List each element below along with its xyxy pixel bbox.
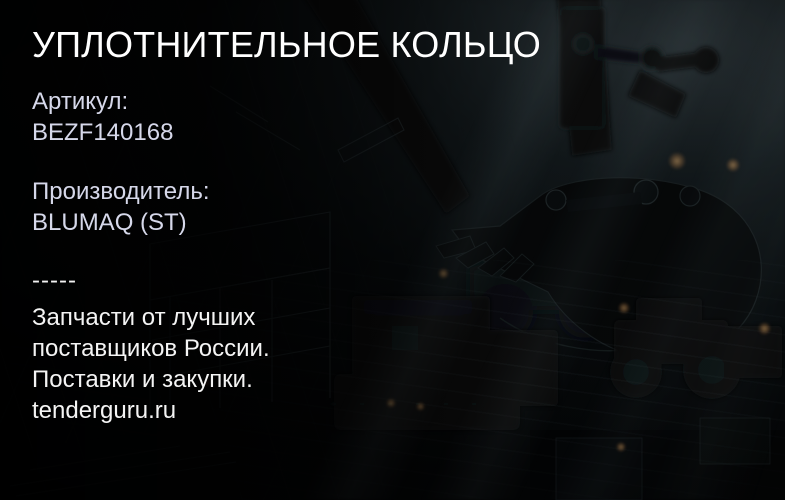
promo-line-2: поставщиков России. bbox=[32, 333, 270, 364]
bokeh-light bbox=[618, 302, 630, 314]
product-banner: УПЛОТНИТЕЛЬНОЕ КОЛЬЦО Артикул: BEZF14016… bbox=[0, 0, 785, 500]
bokeh-light bbox=[726, 158, 740, 172]
bokeh-light bbox=[668, 152, 686, 170]
manufacturer-field: Производитель: BLUMAQ (ST) bbox=[32, 176, 210, 238]
article-label: Артикул: bbox=[32, 88, 128, 115]
banner-content: УПЛОТНИТЕЛЬНОЕ КОЛЬЦО Артикул: BEZF14016… bbox=[32, 0, 592, 500]
tractor-silhouette bbox=[610, 298, 782, 399]
divider-dashes: ----- bbox=[32, 269, 77, 293]
manufacturer-value: BLUMAQ (ST) bbox=[32, 207, 210, 238]
bokeh-light bbox=[616, 442, 626, 452]
promo-line-3: Поставки и закупки. bbox=[32, 364, 270, 395]
site-url: tenderguru.ru bbox=[32, 395, 270, 426]
bokeh-light bbox=[758, 322, 771, 335]
manufacturer-label: Производитель: bbox=[32, 178, 210, 205]
article-value: BEZF140168 bbox=[32, 117, 173, 148]
product-title: УПЛОТНИТЕЛЬНОЕ КОЛЬЦО bbox=[32, 24, 541, 66]
article-field: Артикул: BEZF140168 bbox=[32, 86, 173, 148]
promo-text-block: Запчасти от лучших поставщиков России. П… bbox=[32, 302, 270, 426]
promo-line-1: Запчасти от лучших bbox=[32, 302, 270, 333]
